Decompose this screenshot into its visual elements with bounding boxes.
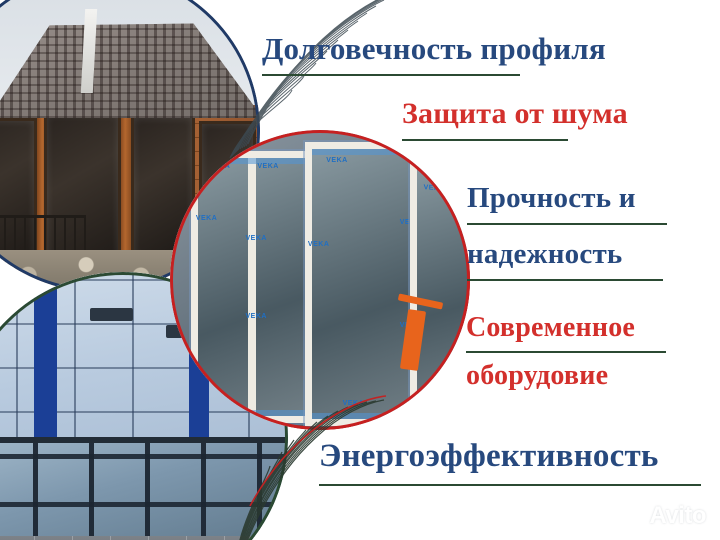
headline-underline xyxy=(319,484,701,486)
avito-dots-icon xyxy=(619,503,645,529)
headline-equipment: оборудовие xyxy=(466,362,608,390)
headline-underline xyxy=(402,139,568,141)
veka-brand-mark: VEKA xyxy=(326,157,347,164)
headline-text: надежность xyxy=(467,238,622,270)
tree-reflection xyxy=(0,505,288,540)
veka-brand-mark: VEKA xyxy=(209,163,230,170)
facade-blue-stripe xyxy=(34,272,57,457)
facade-vent xyxy=(90,308,133,321)
veka-brand-mark: VEKA xyxy=(424,184,445,193)
veka-brand-mark: VEKA xyxy=(196,215,217,222)
granite-base xyxy=(0,536,288,540)
pvc-window-unit: VEKA xyxy=(410,157,470,411)
headline-energy-efficiency: Энергоэффективность xyxy=(319,440,659,473)
veka-brand-mark: VEKA xyxy=(246,235,267,242)
window-glass xyxy=(417,165,470,404)
pvc-window-unit: VEKA VEKA VEKA VEKA VEKA xyxy=(191,151,313,423)
headline-underline xyxy=(467,279,663,281)
photo-veka-image: VEKA VEKA VEKA VEKA VEKA VEKA VEKA VEKA … xyxy=(170,130,470,430)
headline-durability: Долговечность профиля xyxy=(262,33,606,64)
advertisement-poster: VEKA VEKA VEKA VEKA VEKA VEKA VEKA VEKA … xyxy=(0,0,720,540)
protective-film xyxy=(198,410,306,416)
protective-film xyxy=(312,413,414,419)
headline-text: Современное xyxy=(466,312,635,343)
window-mullion xyxy=(248,158,256,416)
headline-reliability: надежность xyxy=(467,240,622,269)
headline-underline xyxy=(466,351,666,353)
headline-underline xyxy=(467,223,667,225)
avito-watermark: Avito xyxy=(619,502,706,530)
veka-brand-mark: VEKA xyxy=(308,241,329,248)
veka-brand-mark: VEKA xyxy=(246,313,267,320)
headline-text: Прочность и xyxy=(467,182,636,214)
headline-strength: Прочность и xyxy=(467,184,636,213)
headline-text: оборудовие xyxy=(466,360,608,391)
headline-text: Энергоэффективность xyxy=(319,438,659,474)
headline-text: Защита от шума xyxy=(402,97,628,130)
headline-modern: Современное xyxy=(466,314,635,342)
veka-brand-mark: VEKA xyxy=(257,163,278,170)
headline-underline xyxy=(262,74,520,76)
headline-noise-protection: Защита от шума xyxy=(402,99,628,129)
photo-veka-windows: VEKA VEKA VEKA VEKA VEKA VEKA VEKA VEKA … xyxy=(170,130,470,430)
headline-text: Долговечность профиля xyxy=(262,31,606,66)
pvc-window-unit: VEKA VEKA VEKA VEKA VEKA xyxy=(305,142,421,426)
avito-label: Avito xyxy=(649,502,706,530)
window-glass xyxy=(312,149,414,419)
veka-brand-mark: VEKA xyxy=(343,400,364,407)
protective-film xyxy=(312,149,414,155)
aluminium-glazing xyxy=(0,437,288,540)
